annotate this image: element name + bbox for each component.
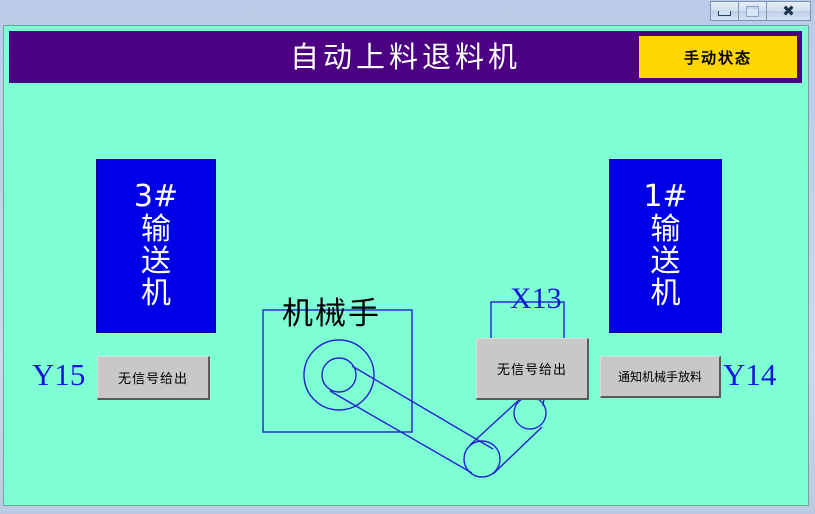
io-label-y14: Y14	[723, 357, 776, 393]
robot-hub-outer-circle	[304, 340, 374, 410]
robot-elbow-joint	[464, 441, 500, 477]
window-controls: ✖	[710, 1, 811, 21]
hmi-client-area: 自动上料退料机 手动状态 3# 输 送 机 Y15 无信号给出 1# 输 送 机…	[3, 25, 809, 506]
conveyor-3-number: 3#	[134, 181, 178, 213]
conveyor-1-line3: 机	[651, 278, 681, 310]
conveyor-1-line1: 输	[651, 214, 681, 246]
conveyor-3-line3: 机	[141, 278, 171, 310]
mode-status-button[interactable]: 手动状态	[639, 36, 797, 78]
io-label-y15: Y15	[32, 357, 85, 393]
maximize-button[interactable]	[738, 1, 767, 21]
signal-button-x13[interactable]: 无信号给出	[476, 338, 589, 400]
io-label-x13: X13	[510, 282, 562, 316]
robot-hub-inner-circle	[322, 358, 356, 392]
minimize-button[interactable]	[710, 1, 739, 21]
close-icon: ✖	[782, 4, 795, 19]
close-button[interactable]: ✖	[766, 1, 811, 21]
conveyor-1-line2: 送	[651, 246, 681, 278]
robot-link2-lower	[493, 427, 542, 474]
robot-link2-upper	[470, 400, 519, 445]
robot-wrist-joint	[514, 397, 546, 429]
minimize-icon	[718, 11, 731, 16]
conveyor-1-number: 1#	[643, 181, 687, 213]
robot-arm-label: 机械手	[282, 288, 381, 333]
conveyor-3-line2: 送	[141, 246, 171, 278]
conveyor-3-line1: 输	[141, 214, 171, 246]
application-window: ✖ 自动上料退料机 手动状态 3# 输 送 机 Y15 无信号给出 1# 输 送…	[0, 0, 815, 514]
conveyor-block-3[interactable]: 3# 输 送 机	[96, 159, 216, 333]
header-band: 自动上料退料机 手动状态	[9, 31, 802, 83]
window-titlebar: ✖	[0, 0, 815, 25]
maximize-icon	[746, 6, 759, 17]
signal-button-y14[interactable]: 通知机械手放料	[600, 356, 721, 398]
conveyor-block-1[interactable]: 1# 输 送 机	[609, 159, 722, 333]
robot-link1-upper	[352, 366, 493, 449]
signal-button-y15[interactable]: 无信号给出	[97, 356, 210, 400]
robot-link1-lower	[330, 391, 472, 473]
